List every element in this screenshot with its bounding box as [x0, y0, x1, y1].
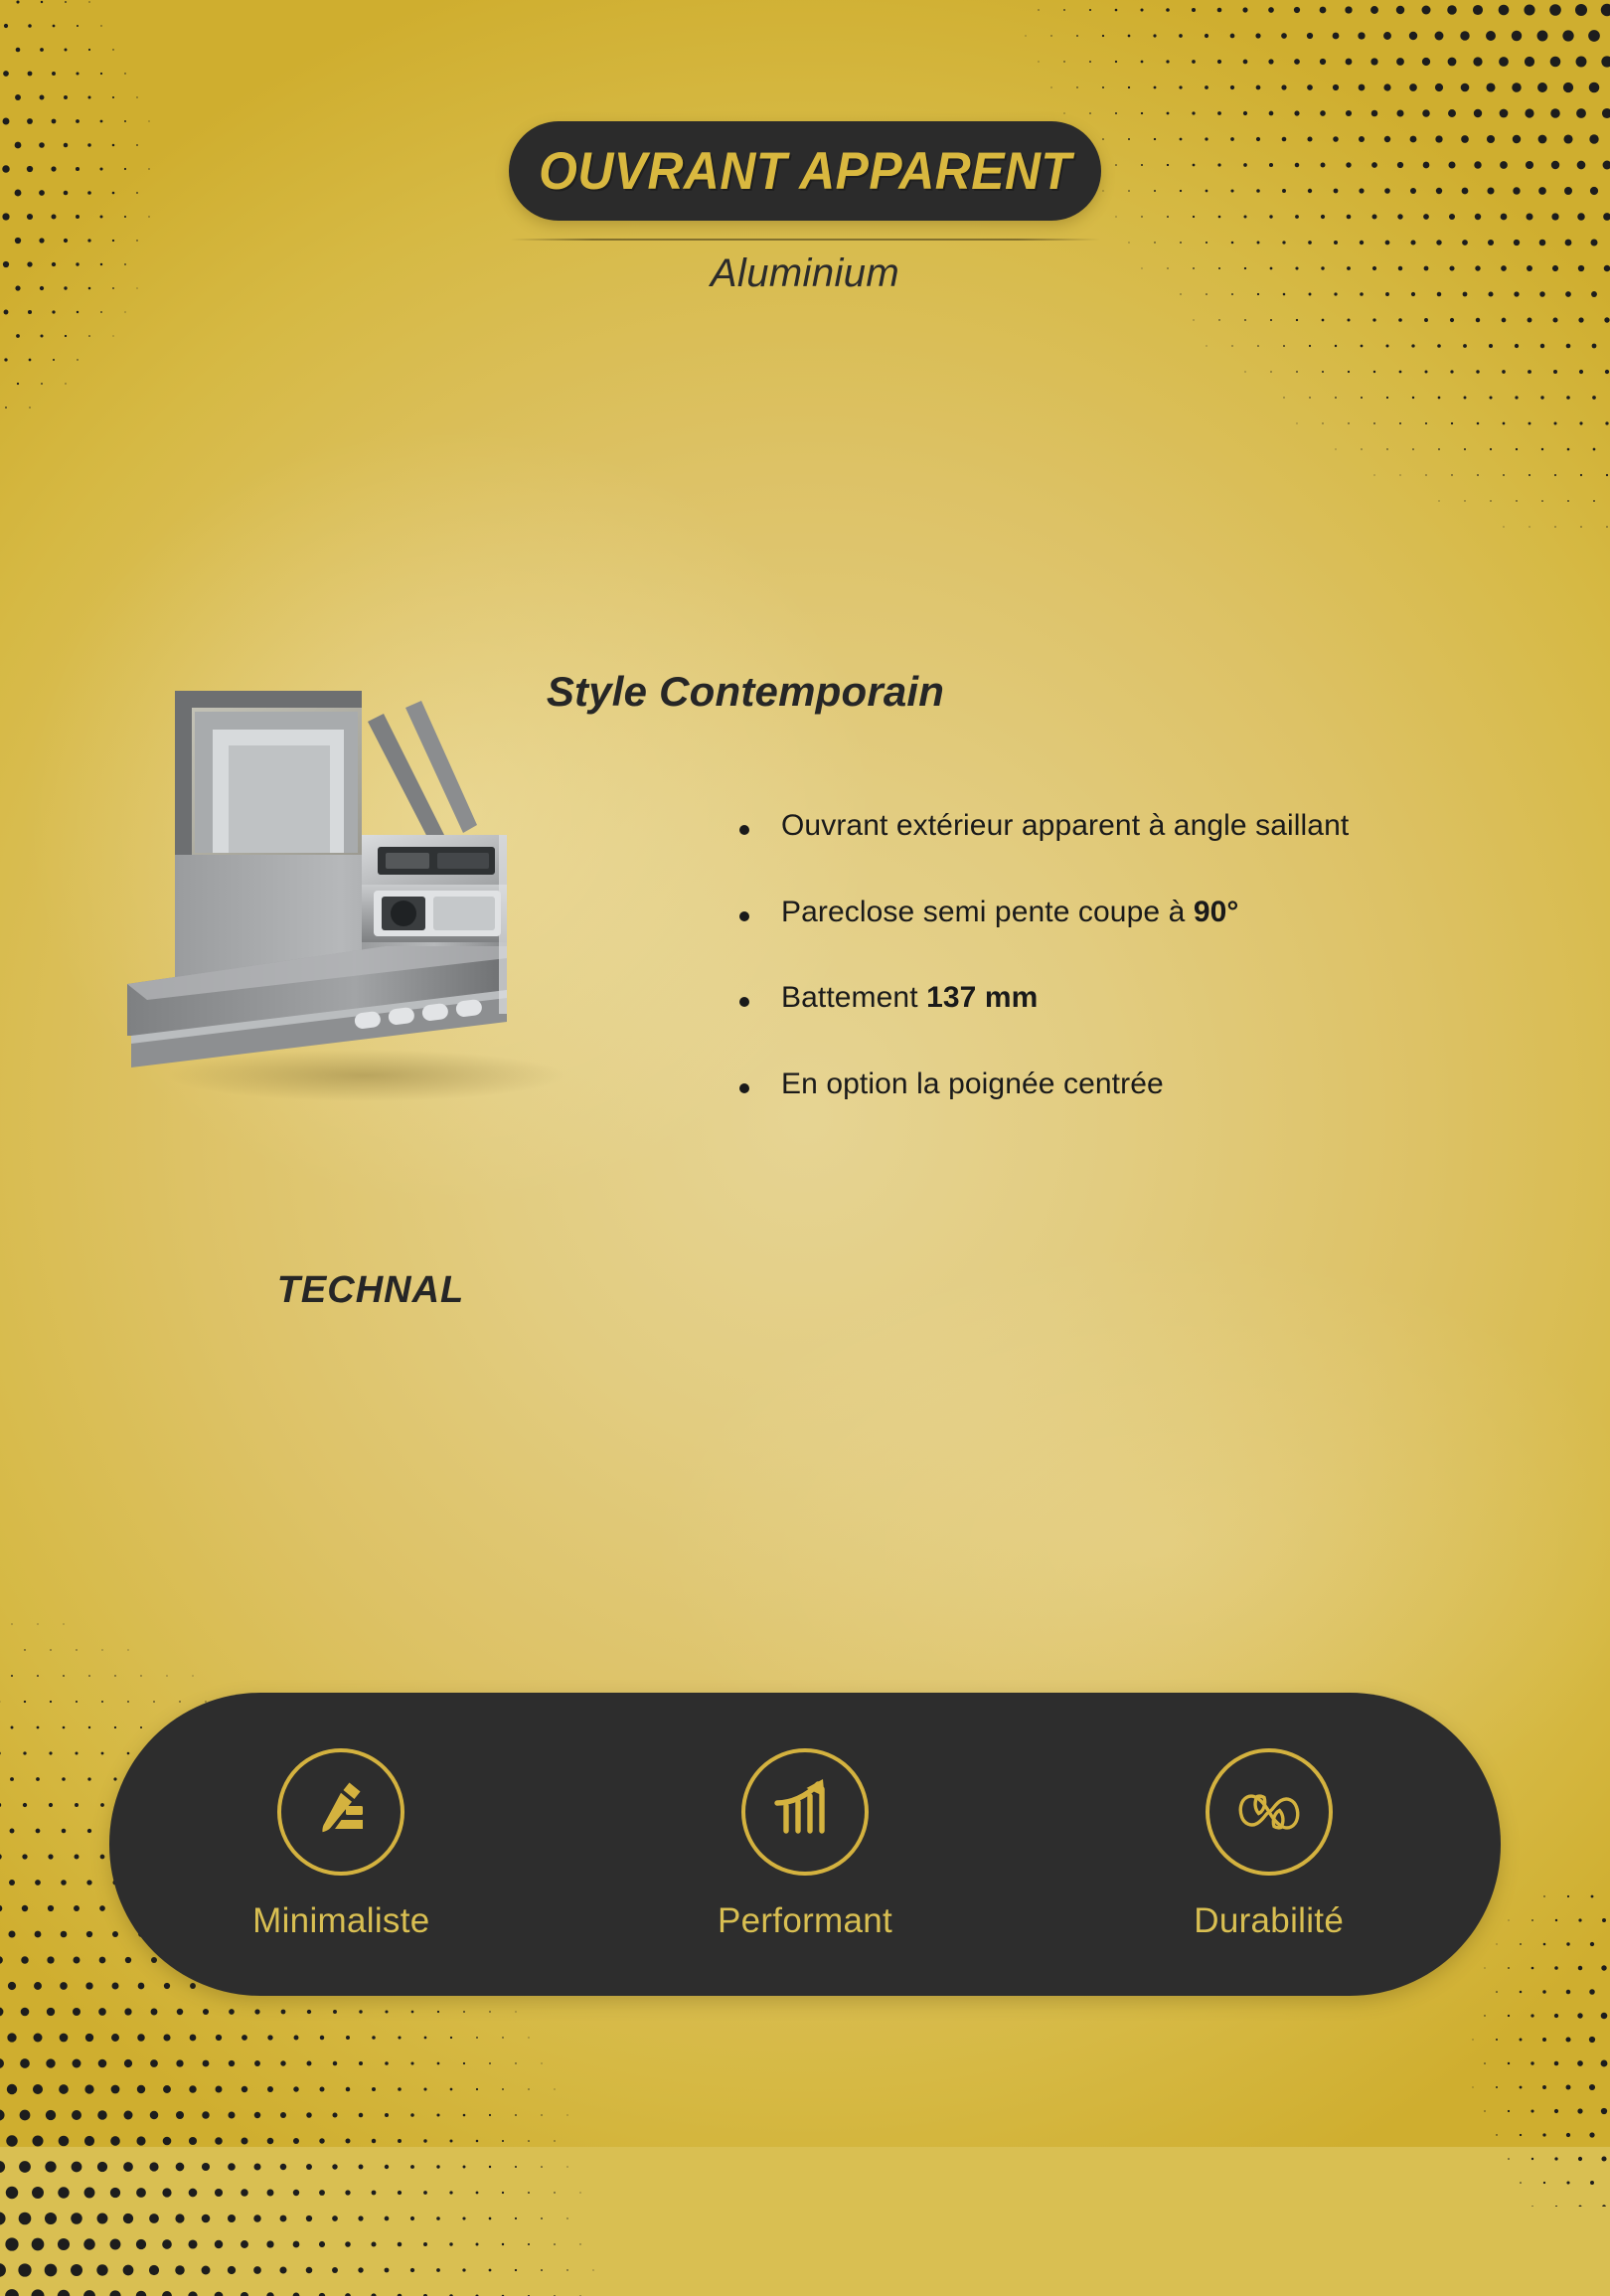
feature-label: Performant — [718, 1901, 892, 1941]
list-item: Ouvrant extérieur apparent à angle saill… — [739, 805, 1395, 848]
feature-label: Durabilité — [1194, 1901, 1344, 1941]
list-item: Pareclose semi pente coupe à 90° — [739, 892, 1395, 934]
bullet-dot-icon — [739, 1083, 749, 1093]
feature-bullet-list: Ouvrant extérieur apparent à angle saill… — [739, 805, 1395, 1105]
list-item: En option la poignée centrée — [739, 1064, 1395, 1106]
feature-highlight-bar: Minimaliste Performant — [109, 1693, 1501, 1996]
page-subtitle: Aluminium — [0, 251, 1610, 296]
list-item-text: Pareclose semi pente coupe à 90° — [781, 892, 1239, 934]
title-pill: OUVRANT APPARENT — [509, 121, 1101, 221]
page-title: OUVRANT APPARENT — [539, 141, 1071, 202]
feature-icon-ring — [741, 1748, 869, 1876]
bullet-dot-icon — [739, 825, 749, 835]
feature-performant[interactable]: Performant — [573, 1748, 1038, 1941]
feature-label: Minimaliste — [252, 1901, 429, 1941]
growth-chart-arrow-icon — [768, 1775, 842, 1849]
product-caption: TECHNAL — [117, 1269, 624, 1312]
product-image-container — [117, 686, 624, 1103]
infinity-leaves-icon — [1230, 1776, 1308, 1848]
feature-heading: Style Contemporain — [547, 668, 944, 716]
aluminium-window-profile-cutaway-icon — [117, 686, 624, 1103]
list-item-text: Ouvrant extérieur apparent à angle saill… — [781, 805, 1349, 848]
feature-durabilite[interactable]: Durabilité — [1037, 1748, 1501, 1941]
pencil-design-icon — [305, 1776, 377, 1848]
feature-icon-ring — [1206, 1748, 1333, 1876]
header-divider — [510, 239, 1100, 241]
feature-minimaliste[interactable]: Minimaliste — [109, 1748, 573, 1941]
list-item-text: En option la poignée centrée — [781, 1064, 1164, 1106]
bullet-dot-icon — [739, 911, 749, 921]
list-item: Battement 137 mm — [739, 977, 1395, 1020]
bullet-dot-icon — [739, 997, 749, 1007]
feature-icon-ring — [277, 1748, 404, 1876]
list-item-text: Battement 137 mm — [781, 977, 1038, 1020]
